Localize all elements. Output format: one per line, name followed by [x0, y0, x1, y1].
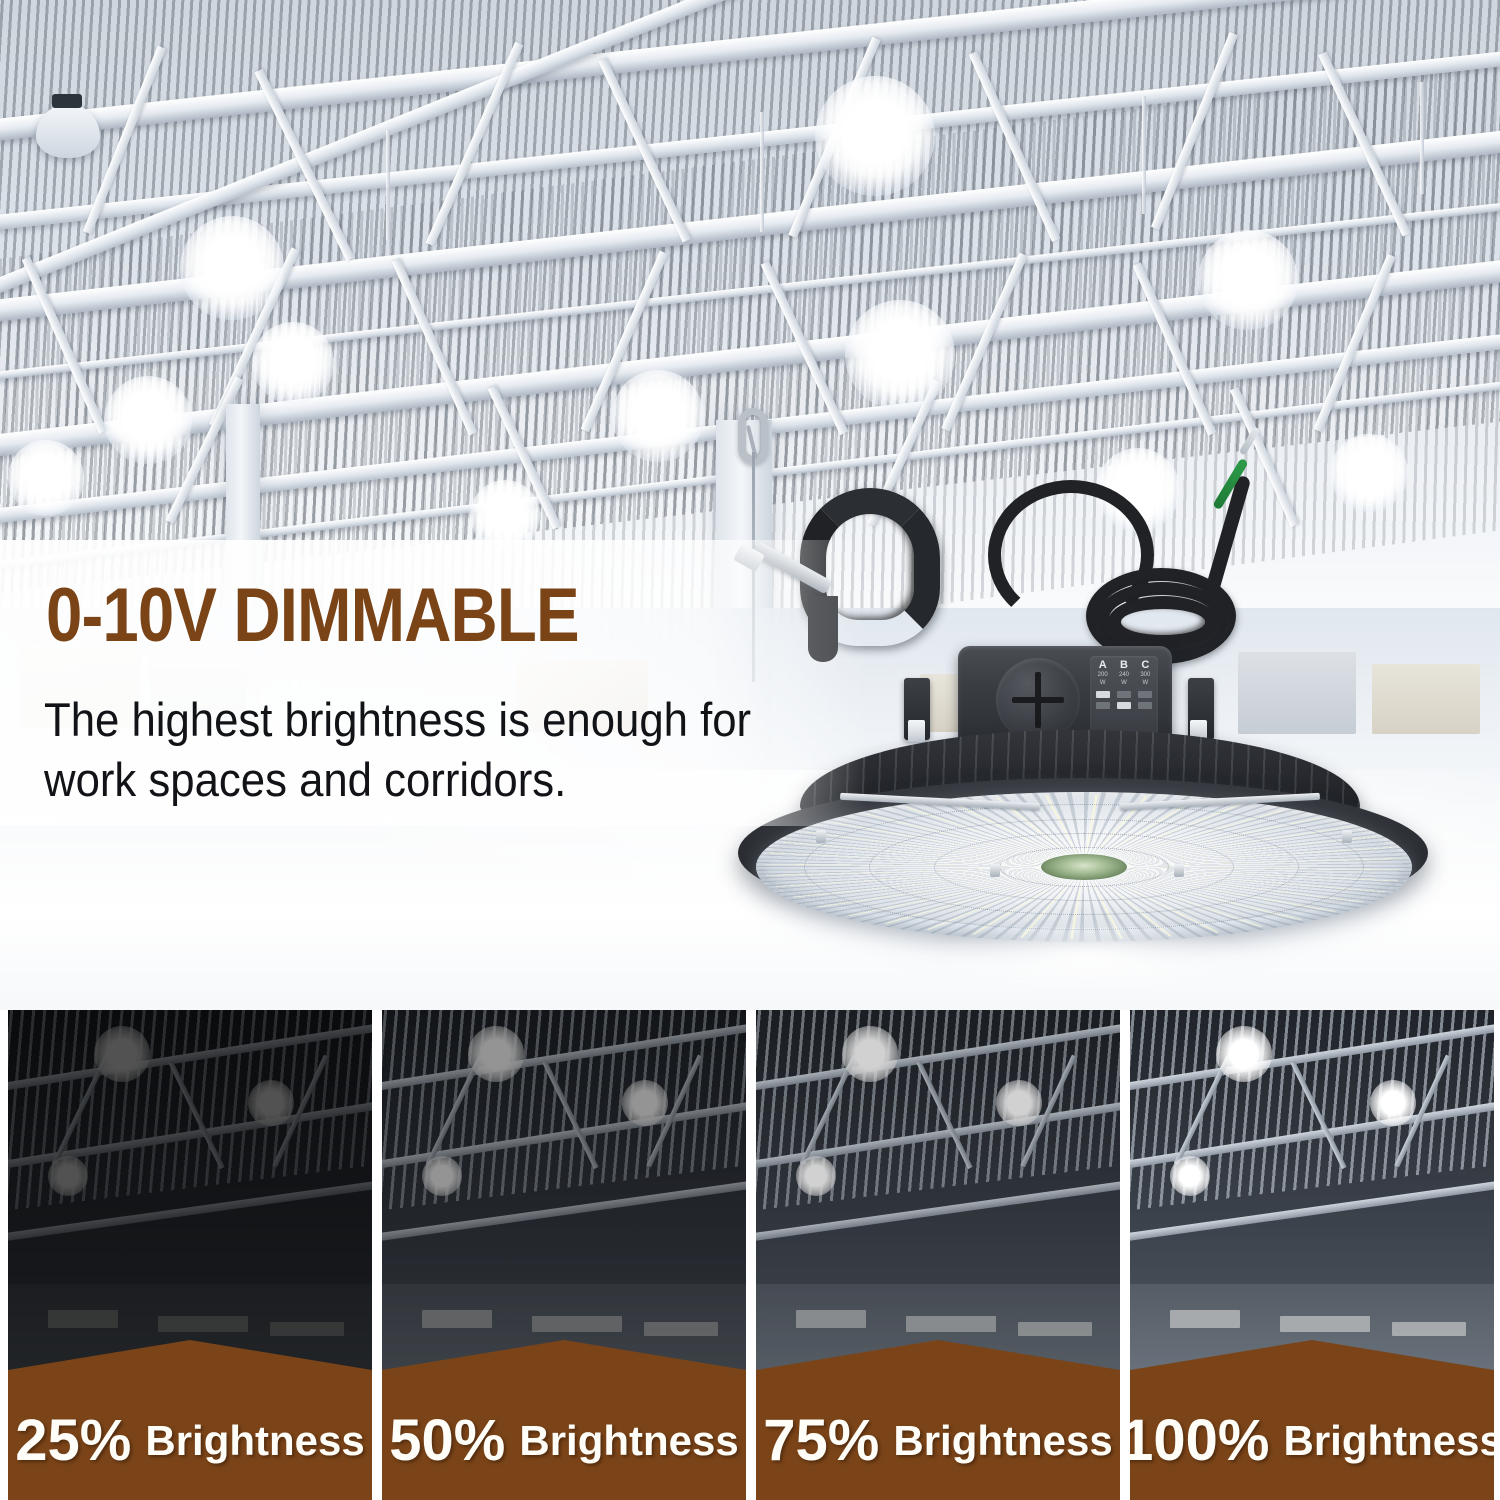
brightness-percent: 25%	[15, 1412, 131, 1470]
dip-switch	[1117, 691, 1131, 698]
wattage-unit-b: W	[1121, 680, 1127, 687]
brightness-percent: 75%	[763, 1412, 879, 1470]
caption-content: 25% Brightness	[8, 1382, 372, 1500]
caption-content: 75% Brightness	[756, 1382, 1120, 1500]
hanger-rod	[1420, 82, 1424, 194]
brightness-percent: 50%	[389, 1412, 505, 1470]
brightness-label: Brightness	[1283, 1420, 1494, 1462]
band-chevron-edge	[756, 1340, 1120, 1382]
ceiling-highbay-light	[180, 216, 284, 320]
power-cord-coil	[1108, 596, 1218, 648]
ceiling-highbay-light	[8, 440, 84, 516]
selector-option-c: C	[1141, 659, 1149, 671]
ceiling-highbay-light	[845, 300, 955, 410]
selector-option-b: B	[1120, 659, 1128, 671]
ceiling-highbay-light	[815, 76, 935, 196]
selector-option-a: A	[1099, 659, 1107, 671]
bare-conductor	[1239, 426, 1260, 455]
lens-retaining-clip	[1174, 864, 1184, 877]
ceiling-highbay-light	[252, 322, 334, 404]
dip-switch	[1096, 691, 1110, 698]
lens-retaining-clip	[990, 864, 1000, 877]
wattage-unit-a: W	[1100, 680, 1106, 687]
wattage-value-a: 200	[1098, 672, 1108, 679]
product-marketing-poster: A B C 200 240 300 W W W	[0, 0, 1500, 1500]
dimming-level-card[interactable]: 75% Brightness	[756, 1010, 1120, 1500]
dip-switch	[1138, 702, 1152, 709]
wattage-value-b: 240	[1119, 672, 1129, 679]
band-chevron-edge	[8, 1340, 372, 1382]
lens-retaining-clip	[816, 830, 826, 843]
caption-content: 50% Brightness	[382, 1382, 746, 1500]
lens-output-glow	[930, 920, 1250, 994]
pendant-lamp-cap	[52, 94, 82, 108]
brightness-percent: 100%	[1130, 1412, 1269, 1470]
dimming-level-card[interactable]: 50% Brightness	[382, 1010, 746, 1500]
dimming-comparison-strip: 25% Brightness	[0, 1010, 1500, 1500]
dip-switch	[1096, 702, 1110, 709]
dimming-level-card[interactable]: 100% Brightness	[1130, 1010, 1494, 1500]
wattage-values-row: 200 240 300	[1092, 672, 1156, 679]
wattage-unit-c: W	[1142, 680, 1148, 687]
brightness-label: Brightness	[893, 1420, 1112, 1462]
wattage-units-row: W W W	[1092, 680, 1156, 687]
hanger-rod	[386, 130, 390, 240]
page-title: 0-10V DIMMABLE	[46, 578, 579, 654]
dip-switch-row	[1092, 702, 1156, 709]
selector-letters-row: A B C	[1092, 659, 1156, 671]
brightness-label: Brightness	[519, 1420, 738, 1462]
screw-cross-slot-vertical	[1035, 672, 1041, 728]
dip-switch-row	[1092, 691, 1156, 698]
brightness-label: Brightness	[145, 1420, 364, 1462]
wattage-value-c: 300	[1140, 672, 1150, 679]
lens-retaining-clip	[1342, 830, 1352, 843]
hanger-rod	[1142, 96, 1146, 214]
hero-warehouse-photo: A B C 200 240 300 W W W	[0, 0, 1500, 1010]
dip-switch	[1138, 691, 1152, 698]
band-chevron-edge	[382, 1340, 746, 1382]
lens-center-hub	[1041, 854, 1127, 880]
band-chevron-edge	[1130, 1340, 1494, 1382]
ceiling-highbay-light	[1198, 230, 1298, 330]
caption-content: 100% Brightness	[1130, 1382, 1494, 1500]
wattage-selector-label: A B C 200 240 300 W W W	[1090, 656, 1158, 738]
hanger-rod	[760, 112, 764, 232]
hero-subtitle: The highest brightness is enough for wor…	[44, 690, 816, 810]
dimming-level-card[interactable]: 25% Brightness	[8, 1010, 372, 1500]
dip-switch	[1117, 702, 1131, 709]
ceiling-highbay-light	[104, 376, 192, 464]
